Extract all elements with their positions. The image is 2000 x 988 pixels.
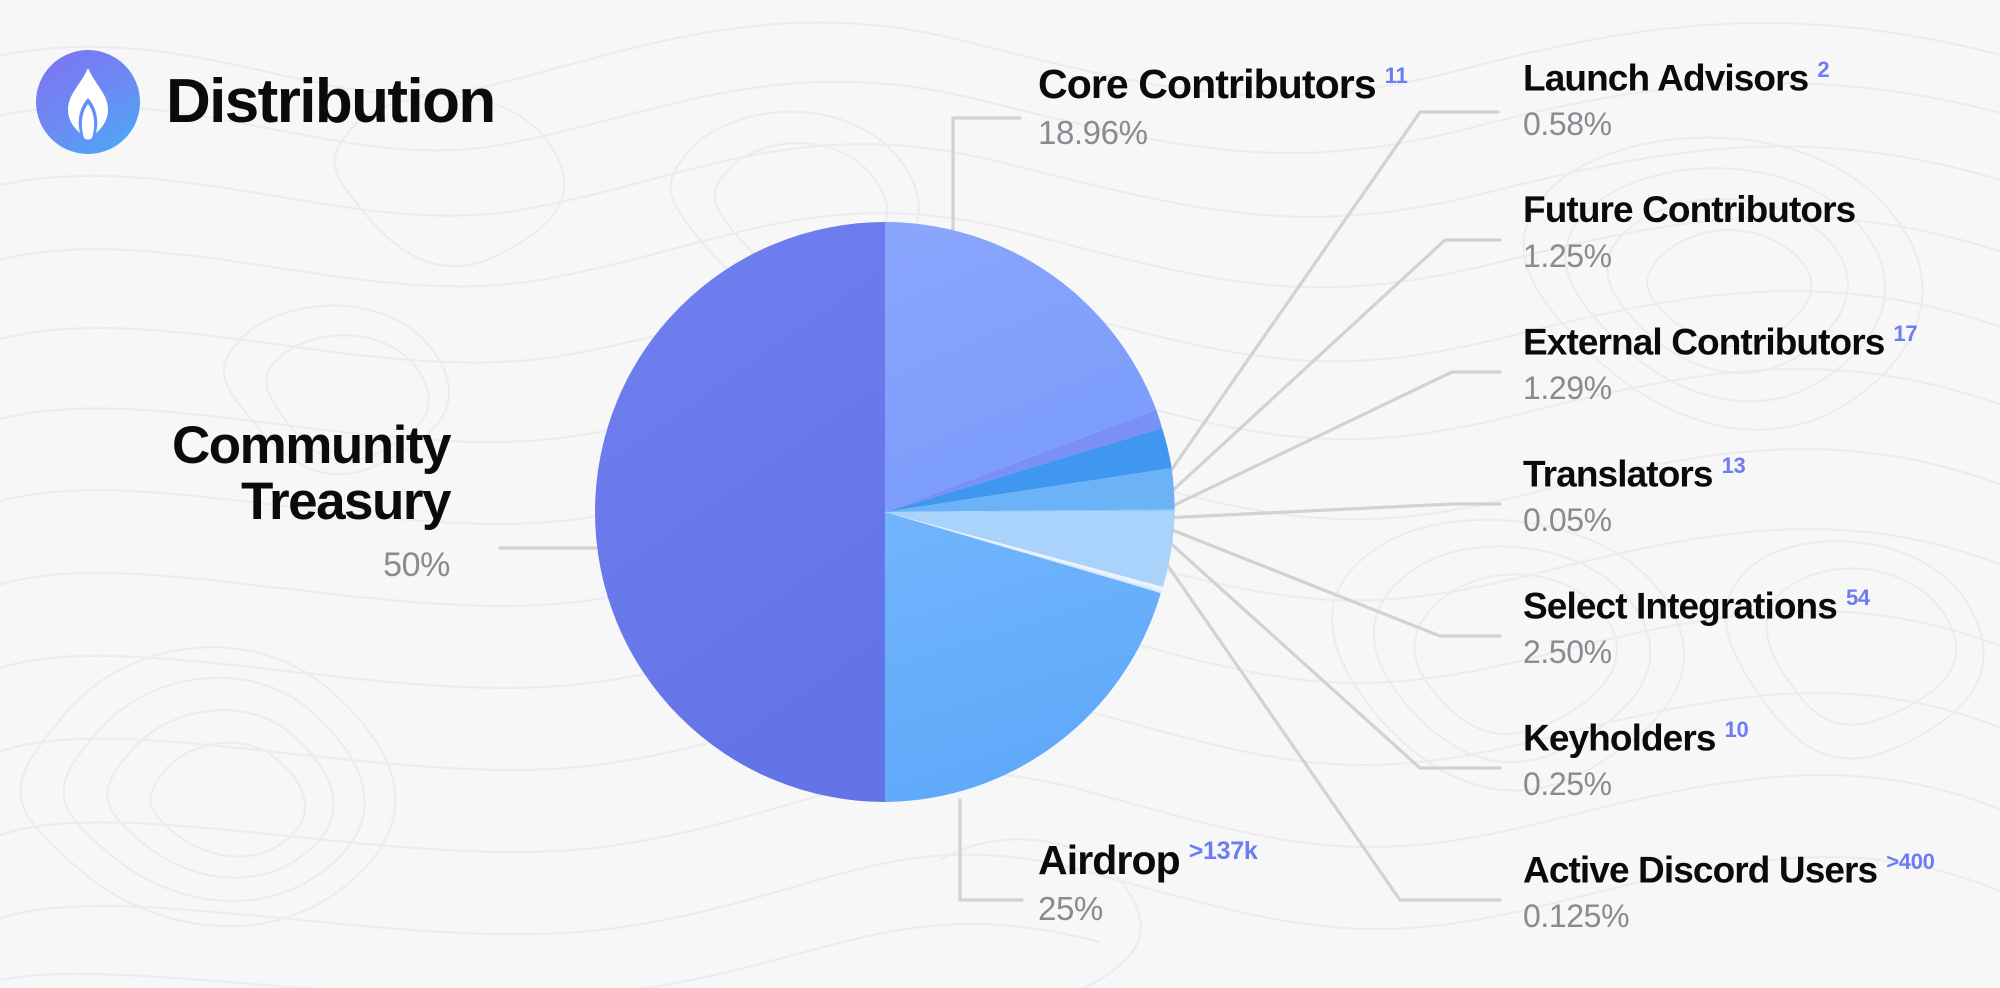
- callout-label: Future Contributors: [1523, 190, 1864, 230]
- callout-count: 54: [1846, 586, 1870, 610]
- distribution-slide: Distribution: [0, 0, 2000, 988]
- callout-count: >137k: [1189, 838, 1258, 865]
- callout-translators: Translators13 0.05%: [1523, 454, 1745, 539]
- callout-label: Select Integrations54: [1523, 586, 1870, 626]
- callout-label: CommunityTreasury: [172, 418, 450, 530]
- callout-percent: 25%: [1038, 890, 1257, 928]
- callout-future-contributors: Future Contributors 1.25%: [1523, 190, 1864, 275]
- distribution-pie-chart[interactable]: [595, 222, 1175, 802]
- logo: [36, 50, 140, 154]
- callout-label: Core Contributors11: [1038, 62, 1407, 106]
- callout-external-contributors: External Contributors17 1.29%: [1523, 322, 1917, 407]
- callout-percent: 2.50%: [1523, 634, 1870, 671]
- callout-launch-advisors: Launch Advisors2 0.58%: [1523, 58, 1829, 143]
- callout-core-contributors: Core Contributors11 18.96%: [1038, 62, 1407, 152]
- callout-count: 2: [1817, 58, 1829, 82]
- callout-count: 17: [1893, 322, 1917, 346]
- callout-label: Keyholders10: [1523, 718, 1748, 758]
- page-title: Distribution: [166, 71, 495, 133]
- leader-airdrop: [960, 800, 1022, 900]
- pie-slice-community-treasury[interactable]: [595, 222, 885, 802]
- callout-percent: 0.25%: [1523, 766, 1748, 803]
- callout-label: External Contributors17: [1523, 322, 1917, 362]
- flame-diamond-logo-icon: [36, 50, 140, 154]
- callout-airdrop: Airdrop>137k 25%: [1038, 838, 1257, 928]
- callout-community-treasury: CommunityTreasury 50%: [110, 418, 450, 585]
- leader-future-contributors: [1158, 240, 1500, 504]
- callout-percent: 1.25%: [1523, 238, 1864, 275]
- callout-percent: 0.58%: [1523, 106, 1829, 143]
- leader-external-contributors: [1162, 372, 1500, 511]
- callout-count: 10: [1725, 718, 1749, 742]
- leader-keyholders: [1158, 532, 1500, 768]
- leader-translators: [1163, 504, 1500, 518]
- callout-active-discord-users: Active Discord Users>400 0.125%: [1523, 850, 1935, 935]
- callout-percent: 0.05%: [1523, 502, 1745, 539]
- callout-select-integrations: Select Integrations54 2.50%: [1523, 586, 1870, 671]
- callout-count: 11: [1385, 64, 1408, 88]
- callout-percent: 0.125%: [1523, 898, 1935, 935]
- callout-keyholders: Keyholders10 0.25%: [1523, 718, 1748, 803]
- callout-count: >400: [1886, 850, 1934, 874]
- brand-header: Distribution: [36, 50, 495, 154]
- callout-percent: 1.29%: [1523, 370, 1917, 407]
- callout-percent: 18.96%: [1038, 114, 1407, 152]
- callout-percent: 50%: [110, 546, 450, 585]
- callout-label: Active Discord Users>400: [1523, 850, 1935, 890]
- callout-count: 13: [1722, 454, 1746, 478]
- callout-label: Airdrop>137k: [1038, 838, 1257, 882]
- leader-launch-advisors: [1152, 112, 1498, 498]
- leader-select-integrations: [1162, 526, 1500, 636]
- callout-label: Launch Advisors2: [1523, 58, 1829, 98]
- callout-label: Translators13: [1523, 454, 1745, 494]
